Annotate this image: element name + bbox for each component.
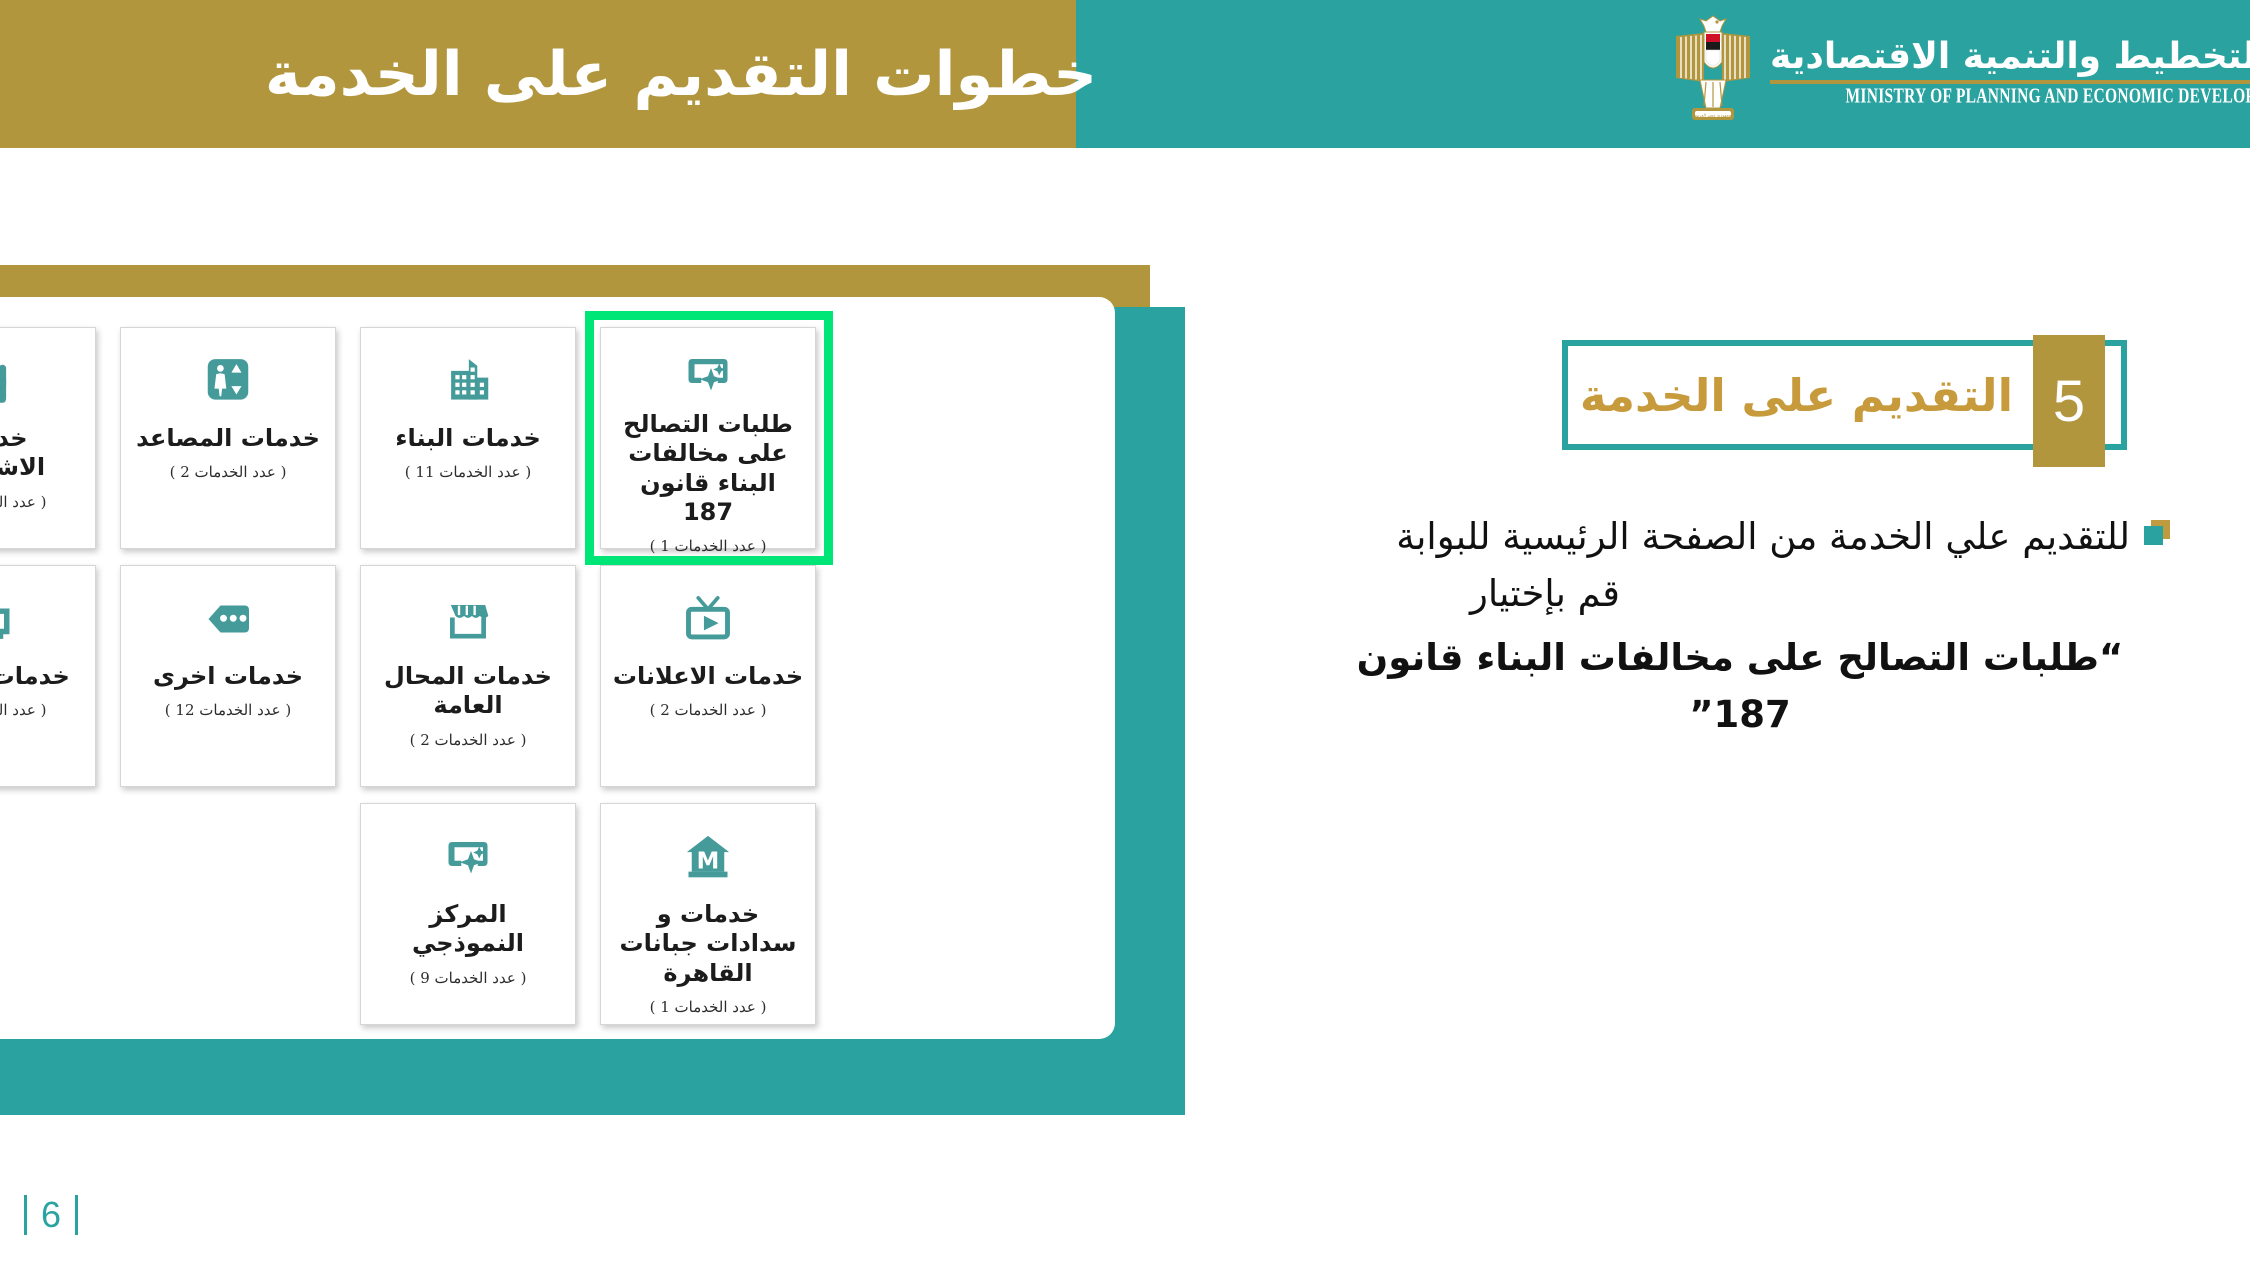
service-card-count: ( عدد الخدمات 2 ) xyxy=(410,731,527,749)
service-card-title: طلبات التصالح على مخالفات البناء قانون 1… xyxy=(601,410,815,527)
service-card-building[interactable]: خدمات البناء ( عدد الخدمات 11 ) xyxy=(360,327,576,549)
service-card-other[interactable]: خدمات اخرى ( عدد الخدمات 12 ) xyxy=(120,565,336,787)
bullet-square-icon xyxy=(2144,520,2170,546)
slide-header: خطوات التقديم على الخدمة xyxy=(0,0,2250,148)
egypt-eagle-emblem-icon: جمهورية مصر العربية xyxy=(1670,12,1756,132)
instruction-line-2: قم بإختيار xyxy=(1350,565,2130,622)
service-card-count: ( عدد الخدمات 4 ) xyxy=(0,493,46,511)
service-card-title: خدمات و سدادات جبانات القاهرة xyxy=(601,900,815,988)
page-number-value: 6 xyxy=(41,1194,61,1236)
service-card-title: خدمات السداد xyxy=(0,662,80,691)
service-card-count: ( عدد الخدمات 9 ) xyxy=(410,969,527,987)
service-card-reconciliation-law-187[interactable]: طلبات التصالح على مخالفات البناء قانون 1… xyxy=(600,327,816,549)
instruction-bullet: للتقديم علي الخدمة من الصفحة الرئيسية لل… xyxy=(1350,508,2170,743)
logo-arabic-name: وزارة التخطيط والتنمية الاقتصادية xyxy=(1770,38,2250,76)
svg-text:M: M xyxy=(697,848,720,874)
service-card-count: ( عدد الخدمات 12 ) xyxy=(165,701,291,719)
service-card-public-shops[interactable]: خدمات المحال العامة ( عدد الخدمات 2 ) xyxy=(360,565,576,787)
service-card-count: ( عدد الخدمات 2 ) xyxy=(170,463,287,481)
service-card-title: المركز النموذجي xyxy=(361,900,575,959)
service-card-title: خدمات اخرى xyxy=(143,662,313,691)
portal-screenshot-panel: خدمات الاشغالات ( عدد الخدمات 4 ) خدمات … xyxy=(0,297,1115,1039)
portal-screenshot-composition: خدمات الاشغالات ( عدد الخدمات 4 ) خدمات … xyxy=(0,265,1200,1095)
building-icon xyxy=(437,350,499,412)
service-card-count: ( عدد الخدمات 2 ) xyxy=(650,701,767,719)
service-card-count: ( عدد الخدمات 6 ) xyxy=(0,701,46,719)
service-card-grid: خدمات الاشغالات ( عدد الخدمات 4 ) خدمات … xyxy=(0,297,1115,1039)
service-card-count: ( عدد الخدمات 1 ) xyxy=(650,537,767,555)
service-card-title: خدمات البناء xyxy=(385,424,551,453)
service-card-count: ( عدد الخدمات 1 ) xyxy=(650,998,767,1016)
service-card-title: خدمات الاعلانات xyxy=(603,662,813,691)
hand-icon xyxy=(0,350,19,412)
card-sparkle-icon xyxy=(437,826,499,888)
right-content-panel: 5 التقديم على الخدمة للتقديم علي الخدمة … xyxy=(1340,340,2170,743)
ministry-logo: جمهورية مصر العربية وزارة التخطيط والتنم… xyxy=(1670,8,2140,136)
service-card-payments[interactable]: خدمات السداد ( عدد الخدمات 6 ) xyxy=(0,565,96,787)
service-card-title: خدمات المحال العامة xyxy=(361,662,575,721)
page-number-bar-right xyxy=(75,1195,78,1235)
service-card-elevators[interactable]: خدمات المصاعد ( عدد الخدمات 2 ) xyxy=(120,327,336,549)
service-card-title: خدمات المصاعد xyxy=(126,424,330,453)
section-heading-label: التقديم على الخدمة xyxy=(1580,369,2013,422)
page-title: خطوات التقديم على الخدمة xyxy=(98,0,1174,148)
bank-m-icon: M xyxy=(677,826,739,888)
service-card-advertisements[interactable]: خدمات الاعلانات ( عدد الخدمات 2 ) xyxy=(600,565,816,787)
instruction-line-1: للتقديم علي الخدمة من الصفحة الرئيسية لل… xyxy=(1350,508,2130,565)
page-number-bar-left xyxy=(24,1195,27,1235)
card-sparkle-icon xyxy=(677,350,739,398)
service-card-count: ( عدد الخدمات 11 ) xyxy=(405,463,531,481)
service-card-occupancy[interactable]: خدمات الاشغالات ( عدد الخدمات 4 ) xyxy=(0,327,96,549)
service-card-title: خدمات الاشغالات xyxy=(0,424,95,483)
storefront-icon xyxy=(437,588,499,650)
logo-text-block: وزارة التخطيط والتنمية الاقتصادية MINIST… xyxy=(1770,38,2250,107)
service-card-cairo-cemeteries[interactable]: M خدمات و سدادات جبانات القاهرة ( عدد ال… xyxy=(600,803,816,1025)
tv-icon xyxy=(677,588,739,650)
instruction-line-3: “طلبات التصالح على مخالفات البناء قانون … xyxy=(1350,629,2130,744)
logo-divider xyxy=(1770,80,2250,84)
page-number: 6 xyxy=(24,1194,78,1236)
tag-ellipsis-icon xyxy=(197,588,259,650)
elevator-icon xyxy=(197,350,259,412)
svg-text:جمهورية مصر العربية: جمهورية مصر العربية xyxy=(1695,112,1732,117)
banknote-icon xyxy=(0,588,19,650)
section-heading-box: 5 التقديم على الخدمة xyxy=(1562,340,2127,450)
section-number-badge: 5 xyxy=(2033,335,2105,467)
logo-english-name: MINISTRY OF PLANNING AND ECONOMIC DEVELO… xyxy=(1845,85,2250,109)
service-card-model-center[interactable]: المركز النموذجي ( عدد الخدمات 9 ) xyxy=(360,803,576,1025)
